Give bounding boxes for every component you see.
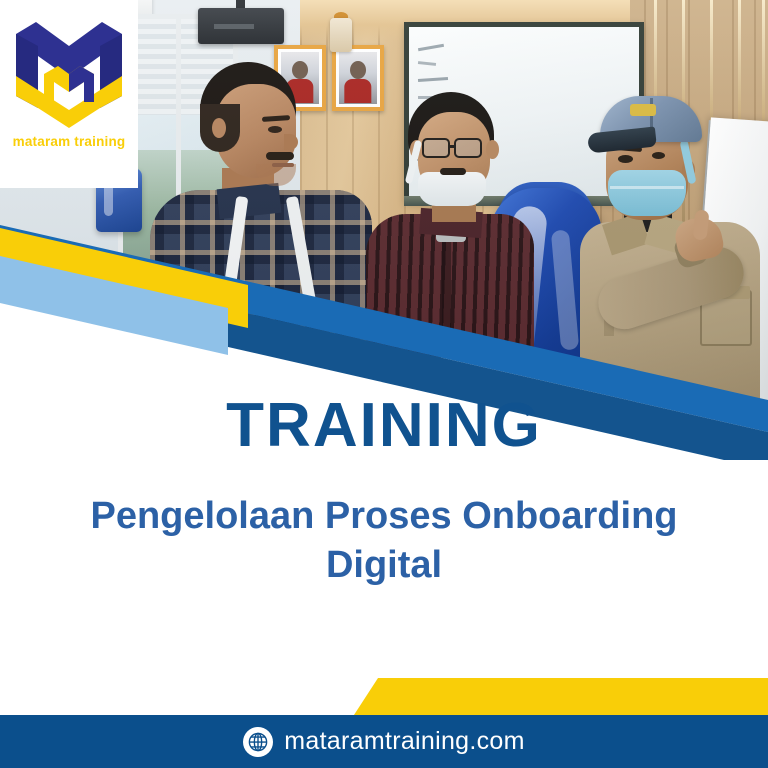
website-url[interactable]: mataramtraining.com [284, 727, 525, 756]
footer-website-bar[interactable]: mataramtraining.com [0, 715, 768, 768]
globe-icon [243, 727, 273, 757]
training-poster: mataram training TRAINING Pengelolaan Pr… [0, 0, 768, 768]
brand-logo-panel: mataram training [0, 0, 138, 188]
brand-wordmark: mataram training [0, 134, 138, 149]
mataram-m-logo-icon [14, 16, 124, 128]
page-subtitle: Pengelolaan Proses Onboarding Digital [58, 492, 710, 589]
page-title: TRAINING [0, 390, 768, 461]
